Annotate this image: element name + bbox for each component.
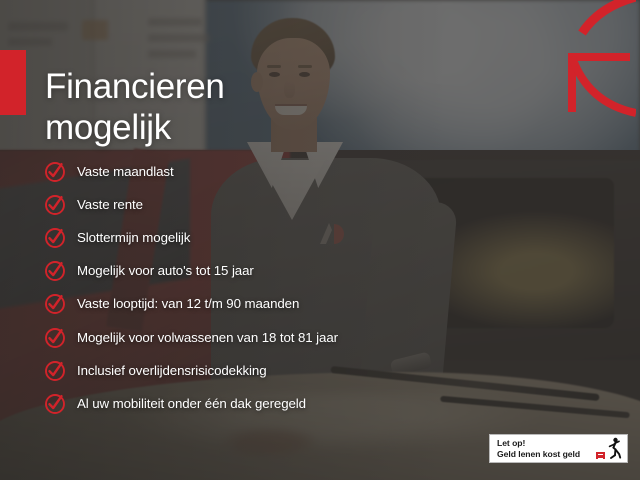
accent-bar	[0, 50, 26, 115]
list-item: Inclusief overlijdensrisicodekking	[44, 354, 464, 387]
list-item-label: Mogelijk voor auto's tot 15 jaar	[77, 263, 254, 279]
promo-banner: Financieren mogelijk Vaste maandlast	[0, 0, 640, 480]
list-item: Mogelijk voor auto's tot 15 jaar	[44, 255, 464, 288]
list-item: Al uw mobiliteit onder één dak geregeld	[44, 387, 464, 420]
feature-checklist: Vaste maandlast Vaste rente Slottermijn …	[44, 155, 464, 421]
page-title-line-2: mogelijk	[45, 107, 375, 148]
warning-line-2: Geld lenen kost geld	[497, 449, 580, 459]
euro-note-icon	[596, 452, 605, 459]
list-item-label: Slottermijn mogelijk	[77, 230, 190, 246]
list-item: Vaste maandlast	[44, 155, 464, 188]
page-title: Financieren mogelijk	[45, 66, 375, 148]
status-badge: Let op! Geld lenen kost geld	[489, 434, 628, 463]
list-item-label: Vaste looptijd: van 12 t/m 90 maanden	[77, 296, 299, 312]
list-item-label: Vaste maandlast	[77, 164, 174, 180]
list-item: Mogelijk voor volwassenen van 18 tot 81 …	[44, 321, 464, 354]
check-circle-icon	[44, 293, 66, 315]
warning-line-1: Let op!	[497, 438, 580, 448]
brand-arc-logo-icon	[544, 0, 636, 118]
check-circle-icon	[44, 260, 66, 282]
list-item: Vaste looptijd: van 12 t/m 90 maanden	[44, 288, 464, 321]
list-item: Vaste rente	[44, 188, 464, 221]
banner-content: Financieren mogelijk Vaste maandlast	[0, 0, 640, 480]
check-circle-icon	[44, 360, 66, 382]
check-circle-icon	[44, 194, 66, 216]
check-circle-icon	[44, 327, 66, 349]
list-item-label: Vaste rente	[77, 197, 143, 213]
walking-man-icon	[606, 437, 623, 459]
check-circle-icon	[44, 227, 66, 249]
page-title-line-1: Financieren	[45, 66, 375, 107]
check-circle-icon	[44, 393, 66, 415]
warning-badge-art	[596, 437, 623, 461]
list-item-label: Al uw mobiliteit onder één dak geregeld	[77, 396, 306, 412]
warning-text: Let op! Geld lenen kost geld	[497, 438, 580, 459]
list-item-label: Inclusief overlijdensrisicodekking	[77, 363, 267, 379]
list-item: Slottermijn mogelijk	[44, 221, 464, 254]
check-circle-icon	[44, 161, 66, 183]
list-item-label: Mogelijk voor volwassenen van 18 tot 81 …	[77, 330, 338, 346]
